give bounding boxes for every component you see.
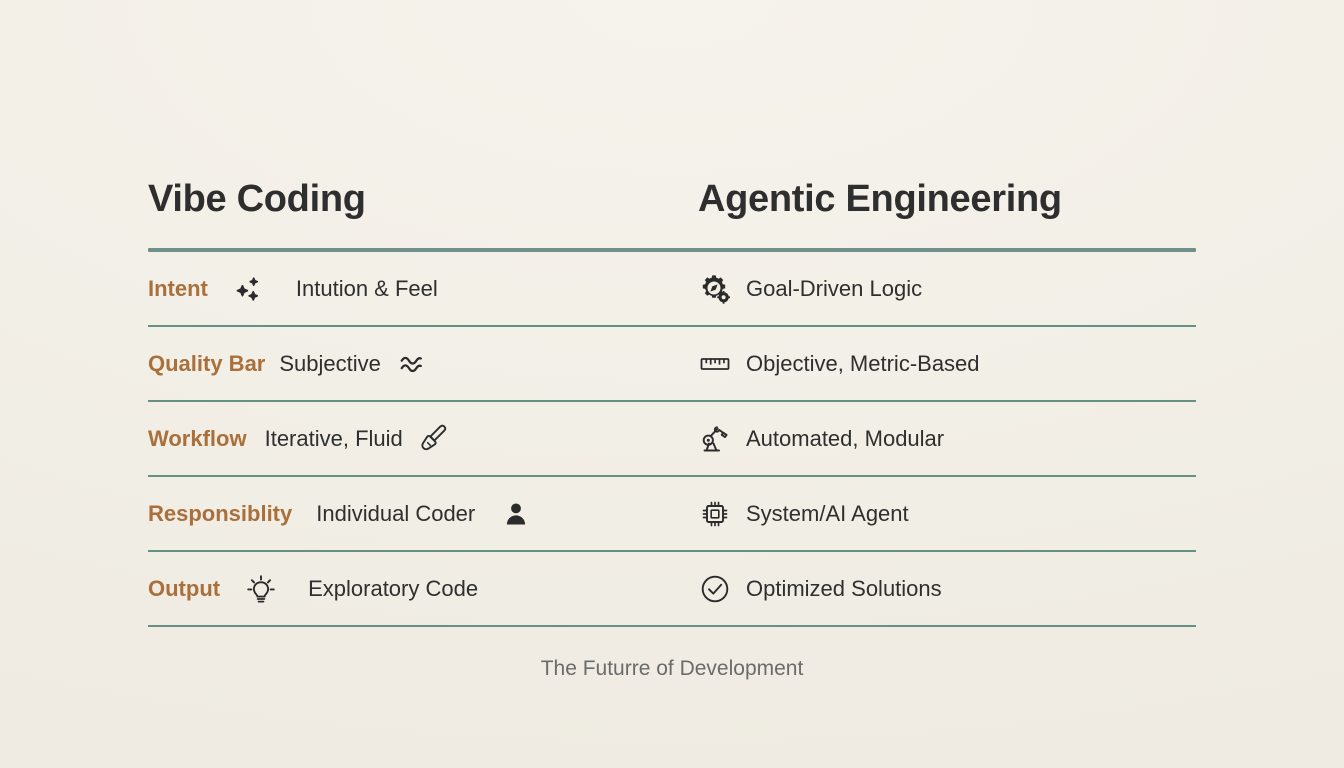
- row-divider: [148, 475, 1196, 477]
- lightbulb-icon: [244, 572, 278, 606]
- row-left-value: Subjective: [279, 351, 381, 377]
- row-label: Workflow: [148, 426, 247, 452]
- row-right-value: Optimized Solutions: [746, 576, 942, 602]
- table-row: Intent Intution & Feel: [148, 252, 1196, 325]
- row-left-cell: Output Exploratory Code: [148, 552, 698, 625]
- ruler-icon: [698, 347, 732, 381]
- row-left-cell: Workflow Iterative, Fluid: [148, 402, 698, 475]
- table-row: Quality Bar Subjective: [148, 327, 1196, 400]
- approximately-equal-icon: [395, 347, 429, 381]
- sparkles-icon: [232, 272, 266, 306]
- row-right-value: Goal-Driven Logic: [746, 276, 922, 302]
- column-header-right: Agentic Engineering: [698, 180, 1196, 218]
- row-left-cell: Intent Intution & Feel: [148, 252, 698, 325]
- table-header: Vibe Coding Agentic Engineering: [148, 118, 1196, 218]
- table-row: Responsiblity Individual Coder: [148, 477, 1196, 550]
- row-left-value: Iterative, Fluid: [265, 426, 403, 452]
- row-left-cell: Responsiblity Individual Coder: [148, 477, 698, 550]
- paintbrush-icon: [417, 422, 451, 456]
- row-right-value: Automated, Modular: [746, 426, 944, 452]
- row-divider: [148, 625, 1196, 627]
- row-right-cell: System/AI Agent: [698, 477, 1196, 550]
- robot-arm-icon: [698, 422, 732, 456]
- row-right-cell: Objective, Metric-Based: [698, 327, 1196, 400]
- row-label: Intent: [148, 276, 208, 302]
- column-header-left: Vibe Coding: [148, 180, 698, 218]
- row-left-value: Intution & Feel: [296, 276, 438, 302]
- left-column-title: Vibe Coding: [148, 180, 698, 218]
- row-label: Quality Bar: [148, 351, 265, 377]
- row-left-cell: Quality Bar Subjective: [148, 327, 698, 400]
- table-row: Workflow Iterative, Fluid: [148, 402, 1196, 475]
- row-label: Output: [148, 576, 220, 602]
- table-row: Output Exploratory Code: [148, 552, 1196, 625]
- footer-caption: The Futurre of Development: [148, 657, 1196, 681]
- cpu-chip-icon: [698, 497, 732, 531]
- row-right-cell: Optimized Solutions: [698, 552, 1196, 625]
- row-left-value: Individual Coder: [316, 501, 475, 527]
- comparison-table: Vibe Coding Agentic Engineering Intent: [148, 118, 1196, 681]
- row-label: Responsiblity: [148, 501, 292, 527]
- person-icon: [499, 497, 533, 531]
- row-right-cell: Automated, Modular: [698, 402, 1196, 475]
- row-right-value: Objective, Metric-Based: [746, 351, 980, 377]
- row-left-value: Exploratory Code: [308, 576, 478, 602]
- gear-compass-icon: [698, 272, 732, 306]
- comparison-infographic: Vibe Coding Agentic Engineering Intent: [0, 0, 1344, 768]
- row-right-value: System/AI Agent: [746, 501, 909, 527]
- row-divider: [148, 400, 1196, 402]
- row-divider: [148, 325, 1196, 327]
- row-divider: [148, 550, 1196, 552]
- right-column-title: Agentic Engineering: [698, 180, 1196, 218]
- row-right-cell: Goal-Driven Logic: [698, 252, 1196, 325]
- check-circle-icon: [698, 572, 732, 606]
